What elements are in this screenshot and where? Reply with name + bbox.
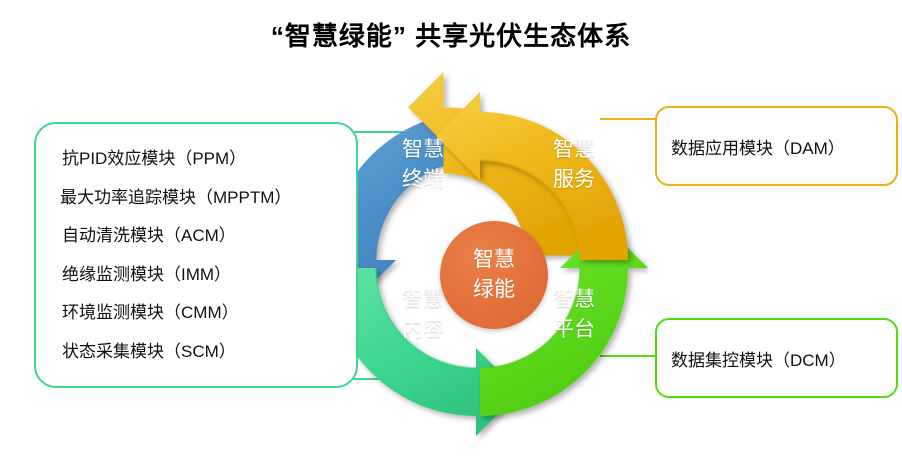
list-item[interactable]: 自动清洗模块（ACM） [52, 217, 348, 256]
right-box-label: 数据集控模块（DCM） [657, 346, 846, 371]
list-item[interactable]: 环境监测模块（CMM） [52, 294, 348, 333]
list-item[interactable]: 抗PID效应模块（PPM） [52, 140, 348, 179]
right-box-data-application[interactable]: 数据应用模块（DAM） [655, 106, 898, 186]
list-item[interactable]: 绝缘监测模块（IMM） [52, 256, 348, 295]
left-module-panel[interactable]: 抗PID效应模块（PPM） 最大功率追踪模块（MPPTM） 自动清洗模块（ACM… [34, 122, 358, 388]
left-module-list: 抗PID效应模块（PPM） 最大功率追踪模块（MPPTM） 自动清洗模块（ACM… [52, 140, 348, 371]
center-hub[interactable]: 智慧 绿能 [440, 221, 548, 329]
center-hub-label: 智慧 绿能 [459, 245, 529, 305]
right-box-label: 数据应用模块（DAM） [657, 134, 845, 159]
list-item[interactable]: 最大功率追踪模块（MPPTM） [52, 179, 348, 218]
right-box-data-control[interactable]: 数据集控模块（DCM） [655, 318, 898, 398]
page-title: “智慧绿能” 共享光伏生态体系 [0, 16, 902, 53]
list-item[interactable]: 状态采集模块（SCM） [52, 333, 348, 372]
